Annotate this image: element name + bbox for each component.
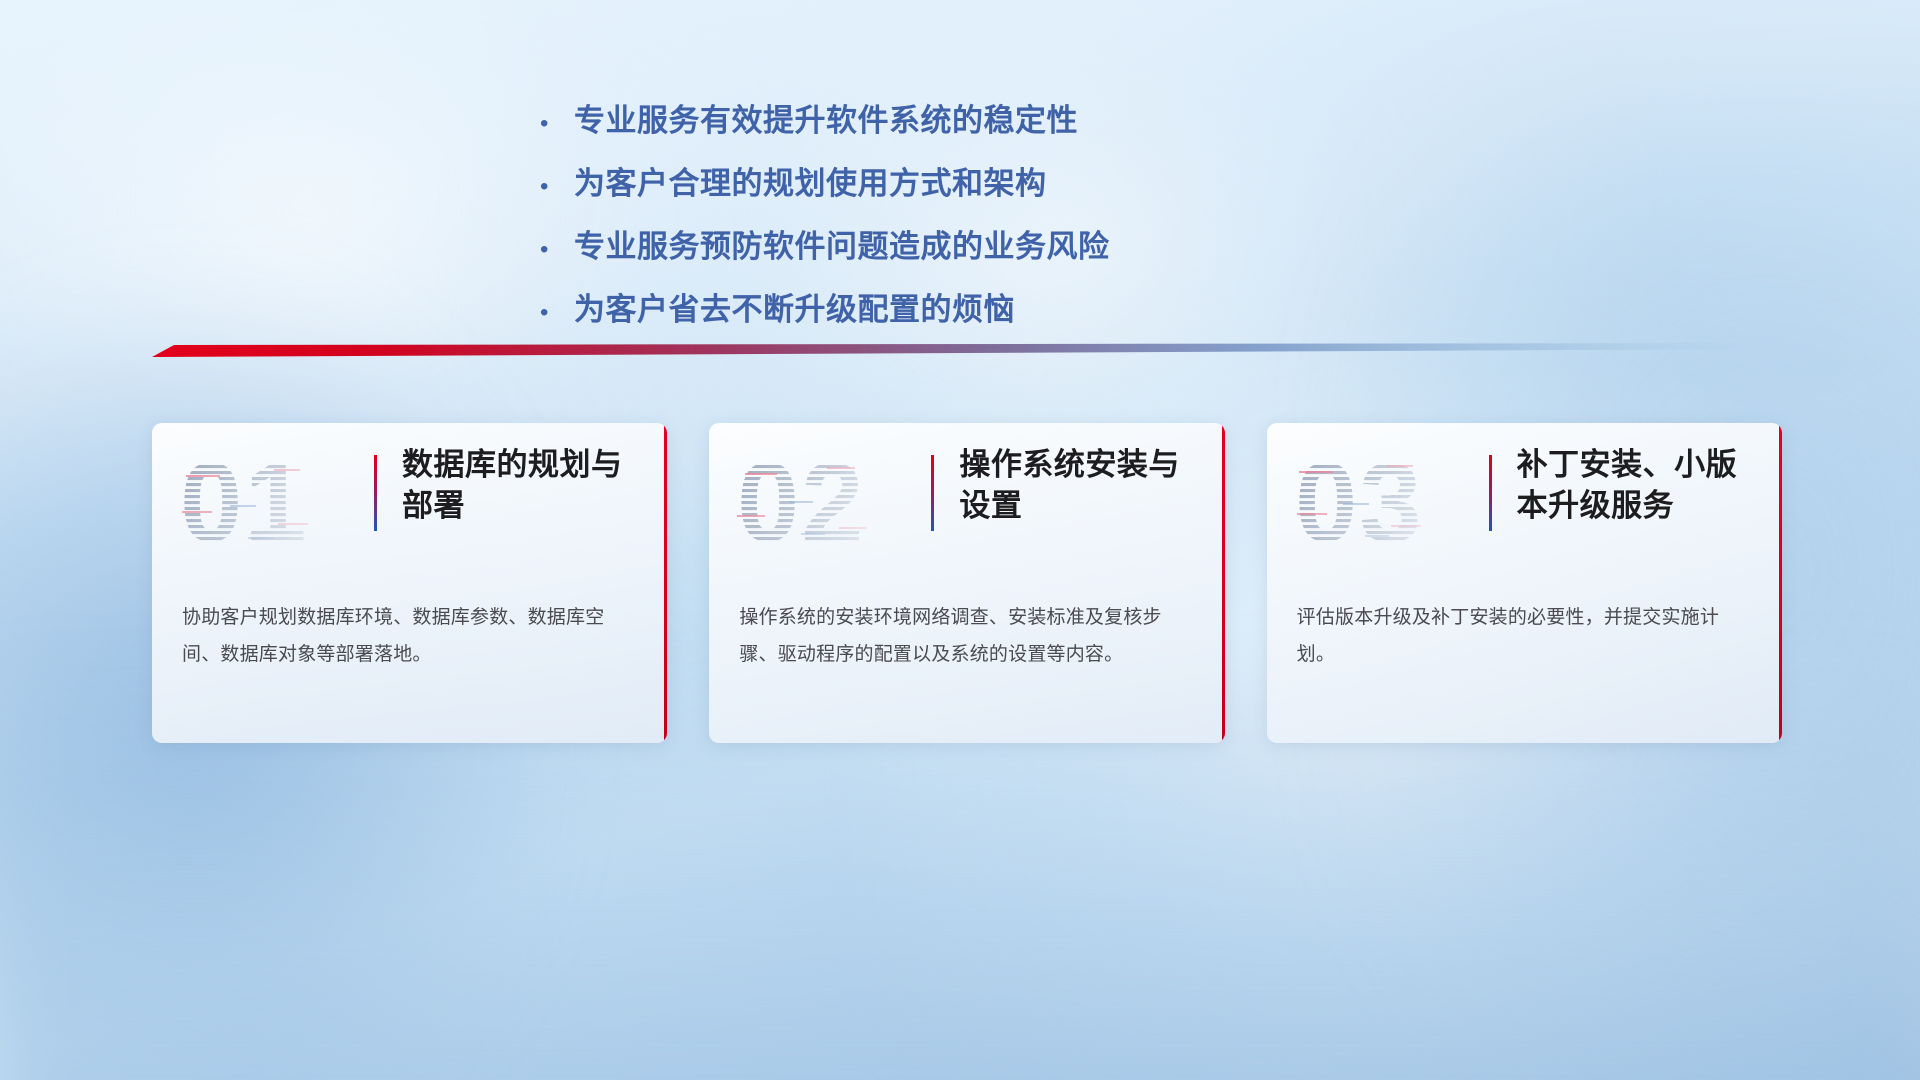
bullet-item-text: 专业服务预防软件问题造成的业务风险 — [574, 221, 1110, 266]
service-card[interactable]: 01 数据库的规划与部署 协助客户规划数据库环境、数据库参数、数据库空间、数据库… — [152, 423, 667, 743]
card-title-accent-bar — [931, 455, 934, 531]
slide-canvas: • 专业服务有效提升软件系统的稳定性 • 为客户合理的规划使用方式和架构 • 专… — [0, 0, 1920, 1080]
card-header: 02 操作系统安装与设置 — [709, 423, 1224, 581]
striped-number-icon: 03 — [1293, 441, 1473, 565]
card-description: 操作系统的安装环境网络调查、安装标准及复核步骤、驱动程序的配置以及系统的设置等内… — [739, 599, 1198, 673]
card-description: 协助客户规划数据库环境、数据库参数、数据库空间、数据库对象等部署落地。 — [182, 599, 641, 673]
bullet-item: • 为客户省去不断升级配置的烦恼 — [540, 284, 1440, 336]
card-title-accent-bar — [1489, 455, 1492, 531]
card-number-watermark: 02 — [735, 441, 915, 565]
bullet-item: • 专业服务有效提升软件系统的稳定性 — [540, 95, 1440, 147]
card-header: 03 补丁安装、小版本升级服务 — [1267, 423, 1782, 581]
bullet-item: • 为客户合理的规划使用方式和架构 — [540, 158, 1440, 210]
card-title: 数据库的规划与部署 — [402, 445, 653, 527]
bullet-dot-icon: • — [540, 175, 574, 199]
card-title: 操作系统安装与设置 — [959, 445, 1210, 527]
service-card[interactable]: 03 补丁安装、小版本升级服务 评估版本升级及补丁安装的必要性，并提交实施计划。 — [1267, 423, 1782, 743]
card-number-watermark: 03 — [1293, 441, 1473, 565]
service-card[interactable]: 02 操作系统安装与设置 操作系统的安装环境网络调查、安装标准及复核步骤、驱动程… — [709, 423, 1224, 743]
divider-shape-icon — [152, 340, 1782, 362]
card-header: 01 数据库的规划与部署 — [152, 423, 667, 581]
benefits-bullet-list: • 专业服务有效提升软件系统的稳定性 • 为客户合理的规划使用方式和架构 • 专… — [540, 95, 1440, 347]
bullet-dot-icon: • — [540, 301, 574, 325]
card-title: 补丁安装、小版本升级服务 — [1517, 445, 1768, 527]
bullet-item: • 专业服务预防软件问题造成的业务风险 — [540, 221, 1440, 273]
striped-number-icon: 01 — [178, 441, 358, 565]
section-divider — [152, 340, 1782, 362]
card-description: 评估版本升级及补丁安装的必要性，并提交实施计划。 — [1297, 599, 1756, 673]
svg-text:01: 01 — [180, 441, 309, 565]
bullet-item-text: 为客户省去不断升级配置的烦恼 — [574, 284, 1015, 329]
striped-number-icon: 02 — [735, 441, 915, 565]
service-card-row: 01 数据库的规划与部署 协助客户规划数据库环境、数据库参数、数据库空间、数据库… — [152, 423, 1782, 743]
bullet-dot-icon: • — [540, 238, 574, 262]
bullet-item-text: 为客户合理的规划使用方式和架构 — [574, 158, 1047, 203]
card-title-accent-bar — [374, 455, 377, 531]
bullet-dot-icon: • — [540, 112, 574, 136]
card-number-watermark: 01 — [178, 441, 358, 565]
bullet-item-text: 专业服务有效提升软件系统的稳定性 — [574, 95, 1078, 140]
